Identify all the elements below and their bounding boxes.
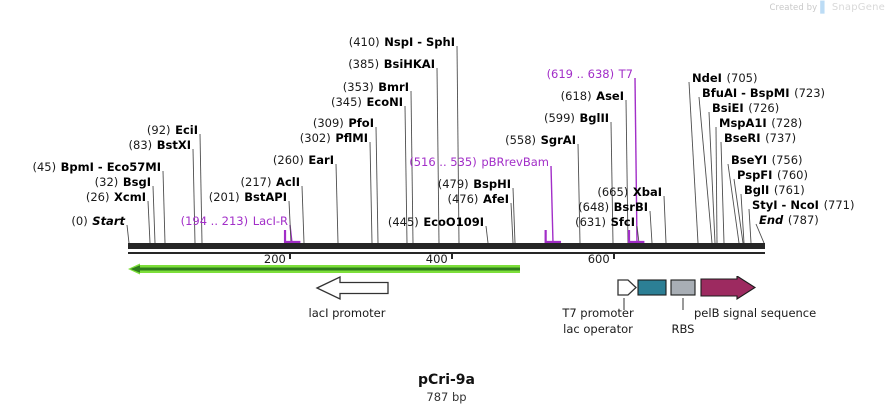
- site-position: (516 .. 535): [409, 155, 477, 169]
- site-label-pflmi[interactable]: (302) PflMI: [300, 132, 368, 144]
- leader-line-pbrrevbam: [551, 166, 553, 243]
- site-position: (353): [343, 80, 374, 94]
- site-enzyme-name: BsiEI: [712, 101, 744, 115]
- site-enzyme-name: PspFI: [737, 168, 772, 182]
- leader-line-pfoi: [376, 127, 378, 243]
- site-position: (201): [209, 190, 240, 204]
- ruler-tick: [451, 252, 453, 259]
- site-label-bsiei[interactable]: BsiEI (726): [712, 102, 779, 114]
- site-enzyme-name: BsiHKAI: [384, 57, 435, 71]
- leader-line-afei: [511, 203, 513, 243]
- caption-rbs: RBS: [655, 322, 711, 336]
- site-label-bfuai-bspmi[interactable]: BfuAI - BspMI (723): [702, 87, 825, 99]
- site-enzyme-name: BseYI: [731, 153, 767, 167]
- site-label-bmri[interactable]: (353) BmrI: [343, 81, 409, 93]
- laci-gene-arrow: [128, 263, 520, 275]
- site-enzyme-name: T7: [619, 67, 633, 81]
- site-position: (309): [313, 116, 344, 130]
- site-label-xbai[interactable]: (665) XbaI: [597, 186, 662, 198]
- caption-pelb-signal-sequence: pelB signal sequence: [694, 306, 874, 320]
- site-position: (619 .. 638): [547, 67, 615, 81]
- site-position: (476): [447, 192, 478, 206]
- site-label-pfoi[interactable]: (309) PfoI: [313, 117, 374, 129]
- plasmid-size: 787 bp: [0, 390, 893, 404]
- site-position: (599): [544, 111, 575, 125]
- site-enzyme-name: AclI: [276, 175, 300, 189]
- site-position: (83): [129, 138, 153, 152]
- plasmid-name: pCri-9a: [0, 372, 893, 388]
- site-position: (302): [300, 131, 331, 145]
- site-position: (558): [505, 133, 536, 147]
- lac-operator-glyph[interactable]: [638, 280, 666, 295]
- ruler-tick-label: 600: [588, 252, 612, 266]
- site-position: (631): [575, 215, 606, 229]
- site-label-acli[interactable]: (217) AclI: [241, 176, 300, 188]
- site-label-afei[interactable]: (476) AfeI: [447, 193, 509, 205]
- site-label-sfci[interactable]: (631) SfcI: [575, 216, 635, 228]
- site-enzyme-name: Start: [92, 214, 125, 228]
- site-position: (345): [331, 95, 362, 109]
- leader-line-ecoo109i: [486, 226, 488, 243]
- site-enzyme-name: BsrBI: [614, 200, 648, 214]
- site-enzyme-name: BglII: [580, 111, 610, 125]
- site-label-eari[interactable]: (260) EarI: [273, 154, 334, 166]
- caption-t7-promoter: T7 promoter: [553, 306, 643, 320]
- leader-line-nspi-sphi: [457, 46, 459, 243]
- site-enzyme-name: NspI - SphI: [384, 35, 455, 49]
- site-enzyme-name: BmrI: [378, 80, 409, 94]
- site-enzyme-name: BstXI: [157, 138, 191, 152]
- site-label-bgli[interactable]: BglI (761): [744, 184, 805, 196]
- site-enzyme-name: BspHI: [473, 177, 511, 191]
- site-position: (479): [438, 177, 469, 191]
- site-enzyme-name: EarI: [308, 153, 334, 167]
- site-enzyme-name: StyI - NcoI: [752, 198, 819, 212]
- plasmid-map-canvas: Created by ▌ SnapGene (0) Start(26) XcmI…: [0, 0, 893, 412]
- feature-bracket-lacir[interactable]: [285, 230, 300, 242]
- site-position: (0): [71, 214, 87, 228]
- site-position: (385): [348, 57, 379, 71]
- leader-line-mspa1i: [716, 127, 717, 243]
- leader-line-bpmi-eco57mi: [163, 171, 165, 243]
- site-position: (45): [32, 160, 56, 174]
- site-label-styi-ncoi[interactable]: StyI - NcoI (771): [752, 199, 855, 211]
- site-label-end[interactable]: End (787): [759, 214, 819, 226]
- leader-line-xcmi: [148, 201, 150, 243]
- site-enzyme-name: pBRrevBam: [481, 155, 549, 169]
- leader-line-ndei: [689, 82, 698, 243]
- site-enzyme-name: EciI: [175, 123, 198, 137]
- site-position: (761): [774, 183, 805, 197]
- site-enzyme-name: NdeI: [692, 71, 722, 85]
- site-enzyme-name: BstAPI: [244, 190, 287, 204]
- leader-line-t7: [635, 78, 637, 243]
- site-label-bsphi[interactable]: (479) BspHI: [438, 178, 511, 190]
- site-label-asei[interactable]: (618) AseI: [561, 90, 624, 102]
- leader-line-xbai: [664, 196, 666, 243]
- site-position: (445): [388, 215, 419, 229]
- site-label-ecii[interactable]: (92) EciI: [147, 124, 198, 136]
- site-enzyme-name: BglI: [744, 183, 769, 197]
- site-position: (26): [86, 190, 110, 204]
- site-position: (194 .. 213): [181, 214, 249, 228]
- site-enzyme-name: BseRI: [724, 131, 761, 145]
- site-position: (618): [561, 89, 592, 103]
- leader-line-bsgi: [153, 186, 155, 243]
- leader-line-pflmi: [370, 142, 372, 243]
- site-label-start[interactable]: (0) Start: [71, 215, 125, 227]
- caption-laci-promoter: lacI promoter: [307, 306, 387, 320]
- site-label-pspfi[interactable]: PspFI (760): [737, 169, 808, 181]
- site-enzyme-name: PfoI: [348, 116, 374, 130]
- site-position: (665): [597, 185, 628, 199]
- leader-line-start: [127, 225, 129, 243]
- site-position: (723): [794, 86, 825, 100]
- site-enzyme-name: End: [759, 213, 783, 227]
- site-label-pbrrevbam[interactable]: (516 .. 535) pBRrevBam: [409, 156, 549, 168]
- site-position: (726): [748, 101, 779, 115]
- site-enzyme-name: AseI: [596, 89, 624, 103]
- rbs-glyph[interactable]: [671, 280, 695, 295]
- site-enzyme-name: BfuAI - BspMI: [702, 86, 789, 100]
- leader-line-styi-ncoi: [749, 209, 751, 243]
- site-label-bsgi[interactable]: (32) BsgI: [95, 176, 151, 188]
- site-enzyme-name: SgrAI: [541, 133, 576, 147]
- site-label-xcmi[interactable]: (26) XcmI: [86, 191, 146, 203]
- site-enzyme-name: SfcI: [611, 215, 635, 229]
- site-enzyme-name: EcoNI: [367, 95, 403, 109]
- site-position: (787): [788, 213, 819, 227]
- leader-line-bfuai-bspmi: [699, 97, 712, 243]
- leader-line-bsphi: [513, 188, 515, 243]
- site-enzyme-name: BpmI - Eco57MI: [61, 160, 161, 174]
- site-label-mspa1i[interactable]: MspA1I (728): [719, 117, 802, 129]
- caption-lac-operator: lac operator: [553, 322, 643, 336]
- site-label-bsrbi[interactable]: (648) BsrBI: [578, 201, 648, 213]
- site-position: (705): [727, 71, 758, 85]
- site-enzyme-name: MspA1I: [719, 116, 767, 130]
- plasmid-backbone: [128, 243, 765, 249]
- site-label-bstxi[interactable]: (83) BstXI: [129, 139, 191, 151]
- site-position: (410): [349, 35, 380, 49]
- site-position: (771): [824, 198, 855, 212]
- site-position: (217): [241, 175, 272, 189]
- site-label-bpmi-eco57mi[interactable]: (45) BpmI - Eco57MI: [32, 161, 161, 173]
- ruler-tick: [289, 252, 291, 259]
- site-label-nspi-sphi[interactable]: (410) NspI - SphI: [349, 36, 455, 48]
- site-label-bsihkai[interactable]: (385) BsiHKAI: [348, 58, 435, 70]
- site-label-ndei[interactable]: NdeI (705): [692, 72, 757, 84]
- title-block: pCri-9a 787 bp: [0, 372, 893, 404]
- site-position: (648): [578, 200, 609, 214]
- site-position: (32): [95, 175, 119, 189]
- site-label-bstapi[interactable]: (201) BstAPI: [209, 191, 287, 203]
- site-enzyme-name: EcoO109I: [423, 215, 484, 229]
- leader-line-eari: [336, 164, 338, 243]
- leader-line-bgli: [741, 194, 744, 243]
- site-enzyme-name: LacI-R: [253, 214, 288, 228]
- site-position: (92): [147, 123, 171, 137]
- leader-line-bstxi: [193, 149, 195, 243]
- leader-line-bsrbi: [650, 211, 652, 243]
- site-position: (737): [765, 131, 796, 145]
- site-label-lacir[interactable]: (194 .. 213) LacI-R: [181, 215, 288, 227]
- site-label-bseyi[interactable]: BseYI (756): [731, 154, 803, 166]
- site-label-bseri[interactable]: BseRI (737): [724, 132, 796, 144]
- site-label-sgrai[interactable]: (558) SgrAI: [505, 134, 576, 146]
- leader-line-bseri: [721, 142, 724, 243]
- site-label-ecoo109i[interactable]: (445) EcoO109I: [388, 216, 484, 228]
- site-label-econi[interactable]: (345) EcoNI: [331, 96, 403, 108]
- site-position: (756): [772, 153, 803, 167]
- site-label-bglii[interactable]: (599) BglII: [544, 112, 609, 124]
- site-position: (728): [771, 116, 802, 130]
- ruler-tick: [613, 252, 615, 259]
- site-enzyme-name: XcmI: [114, 190, 146, 204]
- site-enzyme-name: BsgI: [123, 175, 151, 189]
- t7-promoter-glyph[interactable]: [618, 280, 636, 295]
- site-enzyme-name: XbaI: [633, 185, 662, 199]
- site-label-t7[interactable]: (619 .. 638) T7: [547, 68, 633, 80]
- site-position: (760): [777, 168, 808, 182]
- site-position: (260): [273, 153, 304, 167]
- site-enzyme-name: AfeI: [483, 192, 509, 206]
- leader-line-bstapi: [289, 201, 291, 243]
- site-enzyme-name: PflMI: [335, 131, 368, 145]
- leader-line-acli: [302, 186, 304, 243]
